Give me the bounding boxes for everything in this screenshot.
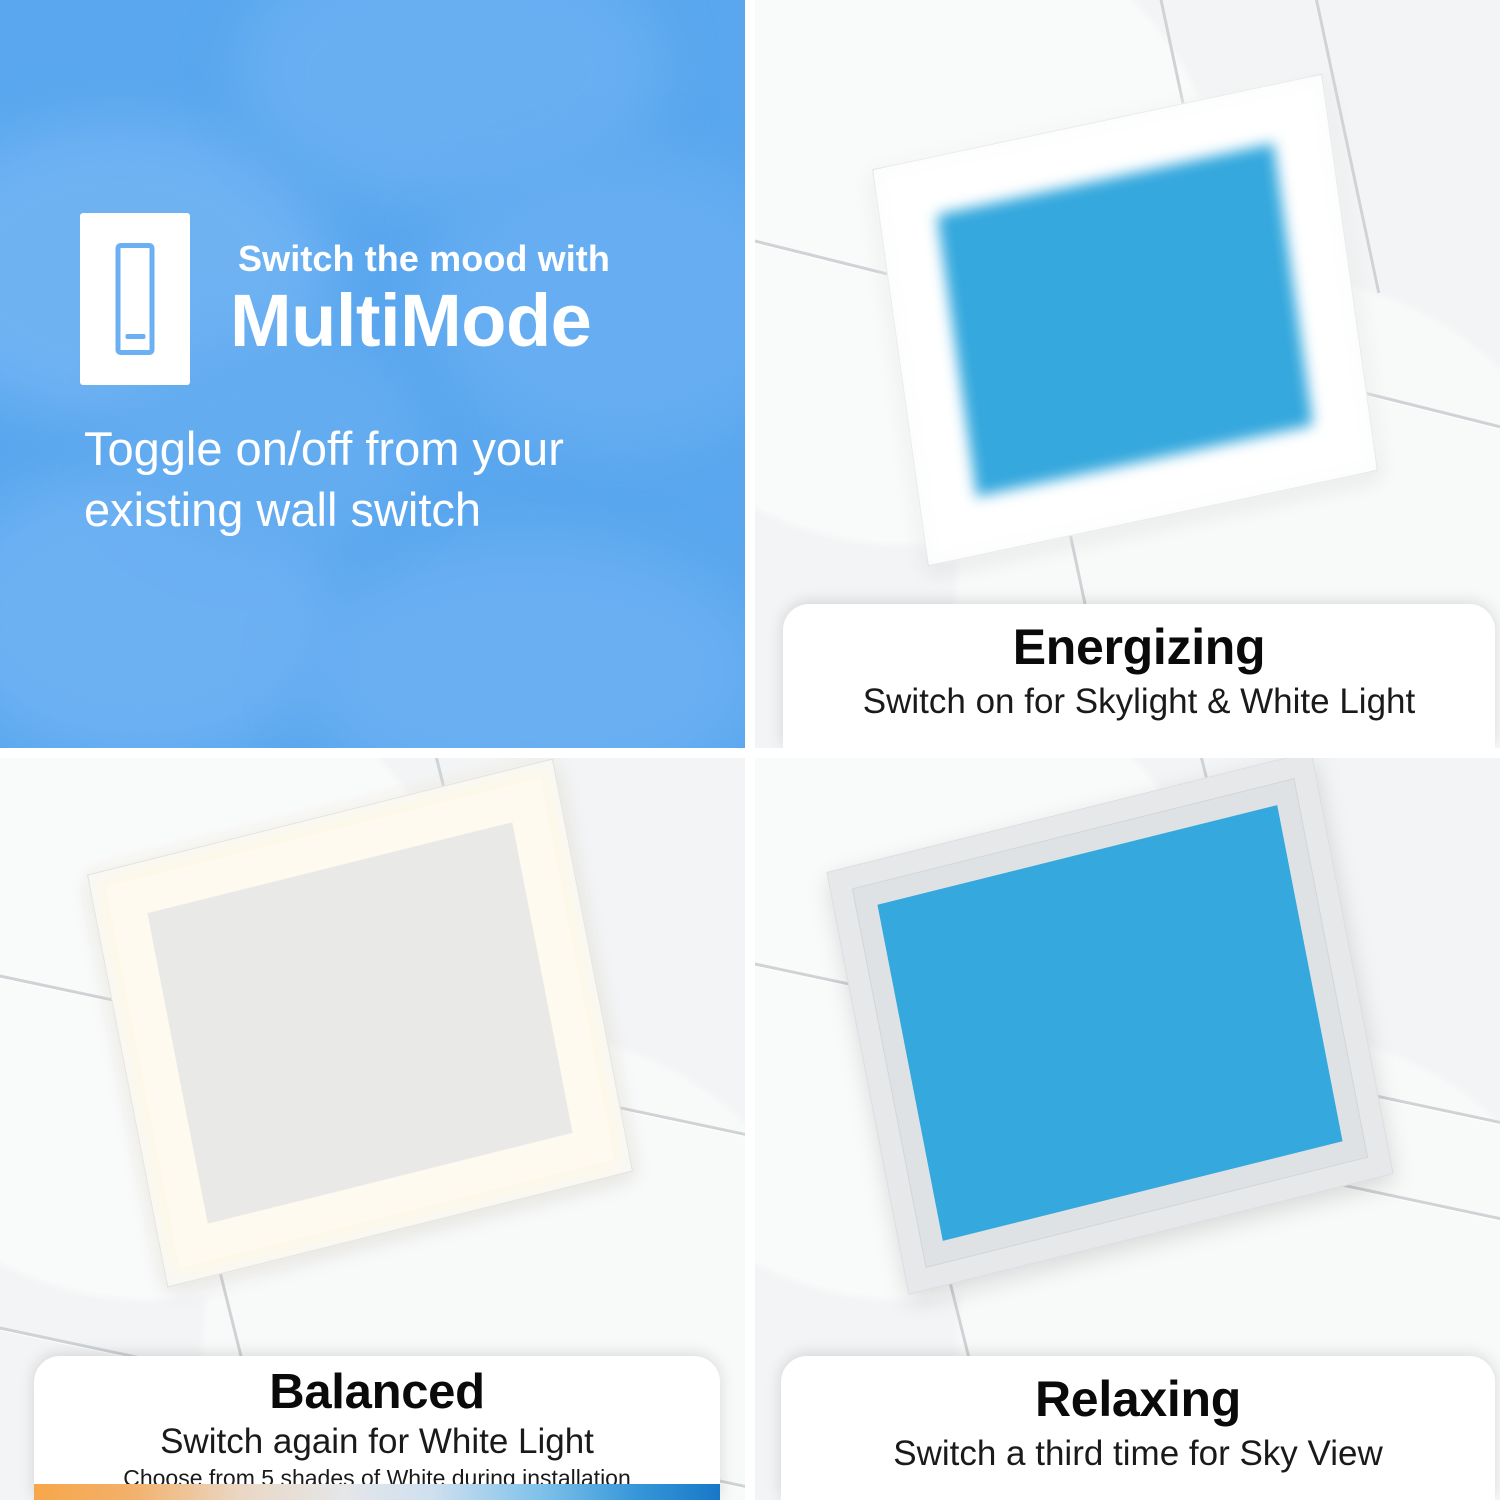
rocker-switch-icon: [116, 243, 155, 355]
mode-tile-balanced: Balanced Switch again for White Light Ch…: [0, 758, 745, 1500]
hero-panel: Switch the mood with MultiMode Toggle on…: [0, 0, 745, 748]
mode-label-card-relaxing: Relaxing Switch a third time for Sky Vie…: [781, 1356, 1495, 1500]
mode-label-card-energizing: Energizing Switch on for Skylight & Whit…: [783, 604, 1495, 748]
mode-title: Energizing: [783, 618, 1495, 676]
mode-label-card-balanced: Balanced Switch again for White Light Ch…: [34, 1356, 720, 1500]
mode-tile-relaxing: Relaxing Switch a third time for Sky Vie…: [755, 758, 1500, 1500]
mode-title: Relaxing: [781, 1370, 1495, 1428]
rocker-switch-indicator-icon: [125, 334, 145, 339]
hero-eyebrow: Switch the mood with: [238, 238, 610, 280]
hero-title: MultiMode: [230, 278, 591, 363]
mode-subtitle: Switch again for White Light: [34, 1422, 720, 1462]
wall-switch-plate-icon: [80, 213, 190, 385]
mode-title: Balanced: [34, 1364, 720, 1420]
mode-subtitle: Switch a third time for Sky View: [781, 1434, 1495, 1474]
product-feature-collage: Switch the mood with MultiMode Toggle on…: [0, 0, 1500, 1500]
mode-subtitle: Switch on for Skylight & White Light: [783, 682, 1495, 722]
mode-tile-energizing: Energizing Switch on for Skylight & Whit…: [755, 0, 1500, 748]
color-temperature-swatch-bar: [34, 1484, 720, 1500]
hero-subtitle: Toggle on/off from your existing wall sw…: [84, 418, 704, 540]
